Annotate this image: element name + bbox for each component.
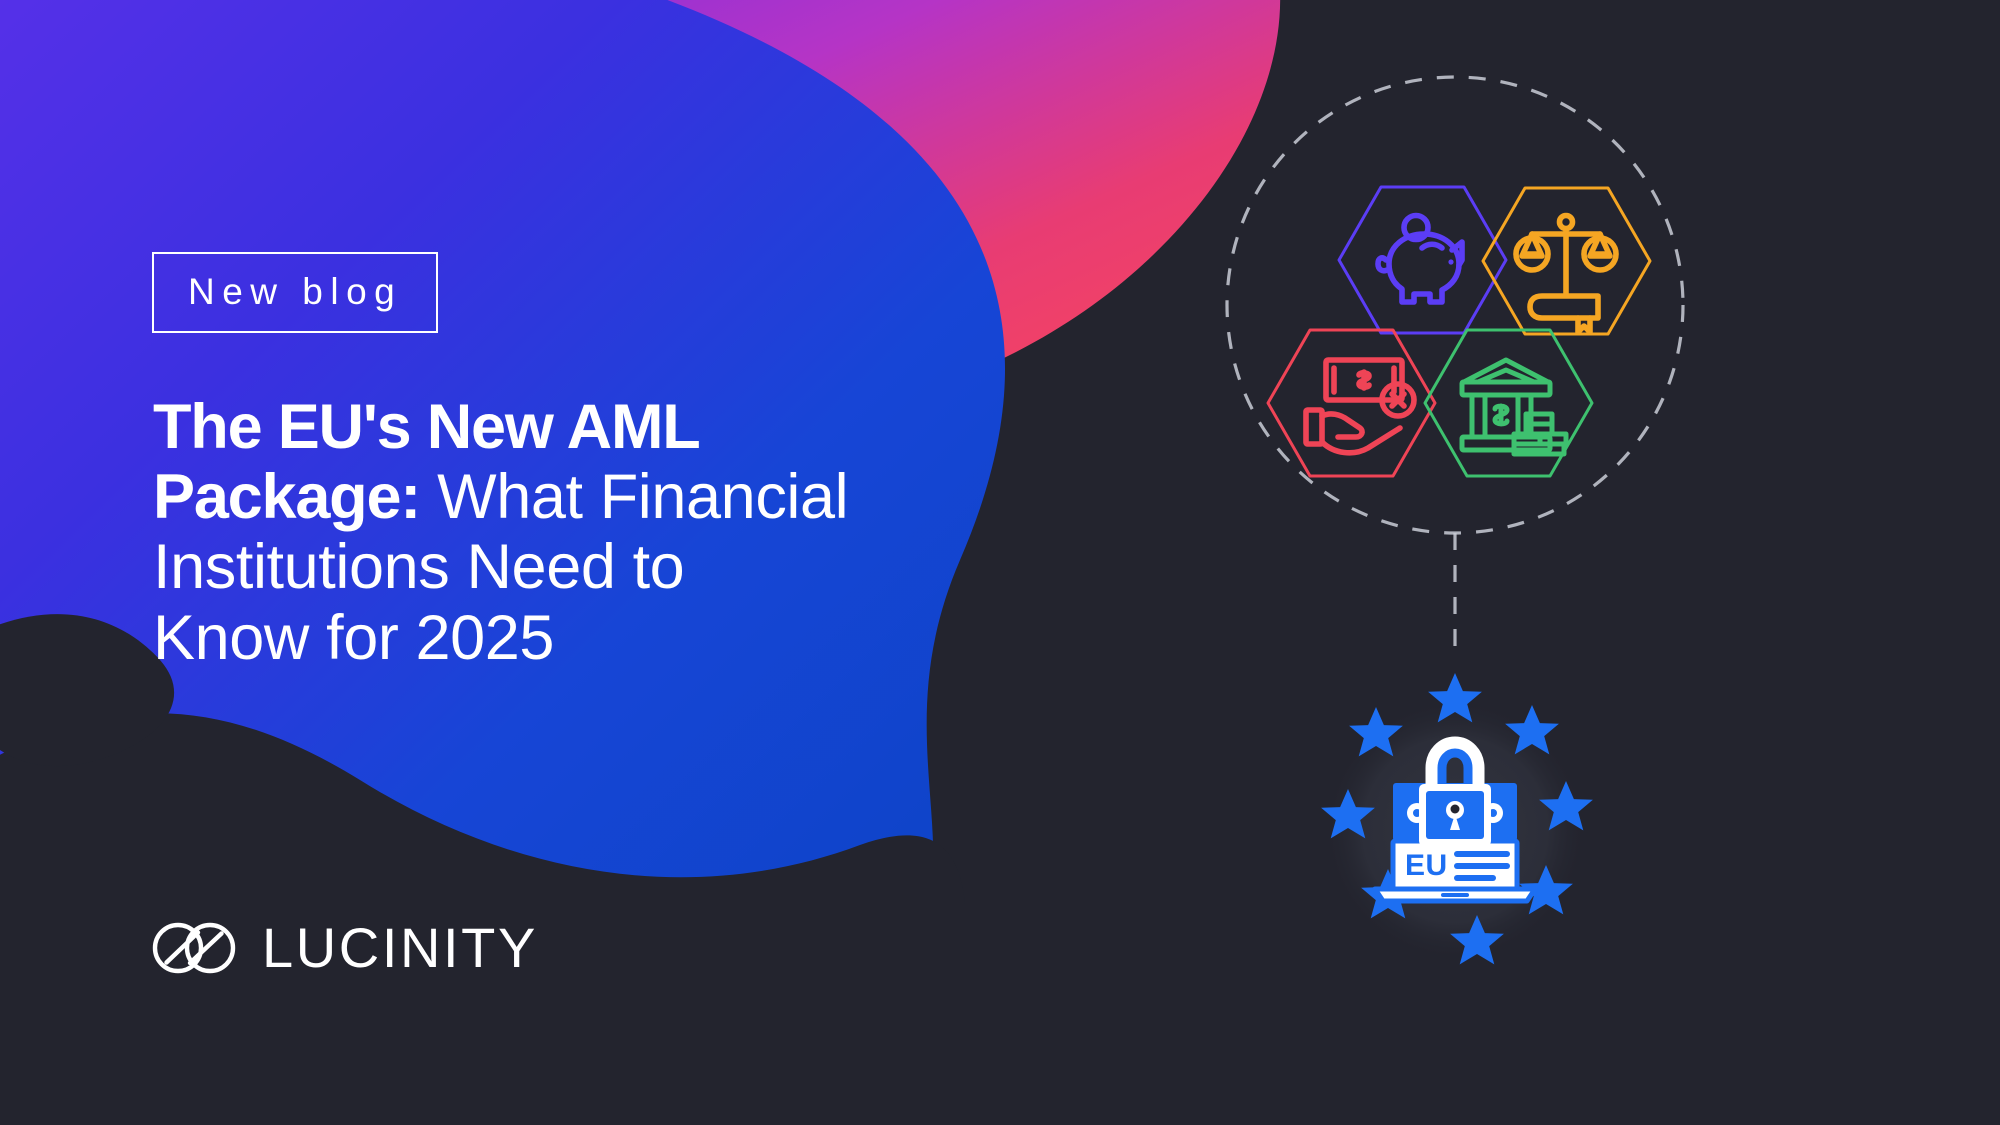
eu-compliance-emblem: EU xyxy=(1321,673,1593,964)
lucinity-logo: LUCINITY xyxy=(152,920,538,976)
headline-line-1: The EU's New AML xyxy=(153,392,700,462)
piggy-bank-icon xyxy=(1378,216,1462,303)
illustration-svg: EU xyxy=(1180,40,1740,1060)
hexagon-regulation xyxy=(1483,188,1650,334)
hexagon-banking xyxy=(1425,330,1592,476)
hexagon-outline-green xyxy=(1425,330,1592,476)
laptop-eu-label: EU xyxy=(1405,849,1448,882)
infinity-loop-mark xyxy=(152,920,236,976)
left-content-column: New blog The EU's New AML Package: What … xyxy=(0,0,1060,1125)
headline-line-2-bold: Package: xyxy=(153,462,420,532)
logo-wordmark: LUCINITY xyxy=(262,920,538,976)
new-blog-badge: New blog xyxy=(152,252,438,333)
hexagon-savings xyxy=(1339,187,1506,333)
page-title: The EU's New AML Package: What Financial… xyxy=(153,392,1033,673)
hand-holding-banknote-rejected-icon xyxy=(1306,360,1414,453)
promo-card-canvas: New blog The EU's New AML Package: What … xyxy=(0,0,2000,1125)
scales-of-justice-icon xyxy=(1516,216,1616,333)
hexagon-blocked-payment xyxy=(1268,330,1435,476)
headline-line-4: Know for 2025 xyxy=(153,603,554,673)
bank-building-coins-icon xyxy=(1462,360,1566,454)
dashed-orbit-circle xyxy=(1227,77,1683,533)
hexagon-outline-purple xyxy=(1339,187,1506,333)
right-illustration: EU xyxy=(1180,40,1740,1060)
headline-line-2-rest: What Financial xyxy=(420,462,848,532)
headline-line-3: Institutions Need to xyxy=(153,532,684,602)
